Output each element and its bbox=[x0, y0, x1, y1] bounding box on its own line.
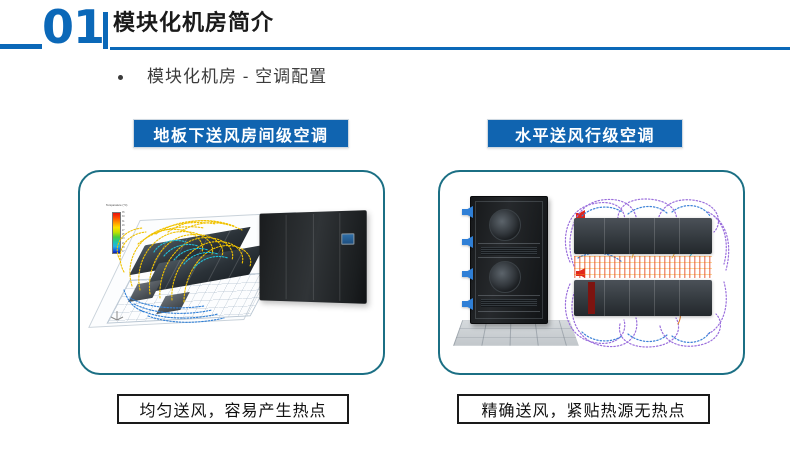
header-dash-accent bbox=[0, 44, 42, 49]
hot-aisle-thermal-plume bbox=[574, 256, 712, 278]
underfloor-cfd-figure: Temperature (°C) 35 33 31 29 27 25 23 21… bbox=[94, 190, 274, 330]
3d-axis-icon bbox=[110, 308, 124, 322]
bullet-item-label: 模块化机房 - 空调配置 bbox=[147, 65, 327, 89]
supply-air-arrow-icon bbox=[462, 206, 473, 218]
rack-row bbox=[574, 280, 712, 316]
legend-title: Temperature (°C) bbox=[106, 204, 128, 207]
bullet-dot-icon bbox=[118, 75, 123, 80]
fan-wheel-icon bbox=[489, 261, 521, 293]
cabinet-body bbox=[470, 196, 548, 324]
temperature-colorbar bbox=[112, 212, 121, 254]
header-underline-rule bbox=[110, 47, 790, 50]
rack-row bbox=[574, 218, 712, 254]
supply-air-arrow-icon bbox=[462, 298, 473, 310]
right-image-panel bbox=[438, 170, 745, 375]
right-section-label: 水平送风行级空调 bbox=[487, 119, 683, 148]
right-caption: 精确送风，紧贴热源无热点 bbox=[457, 394, 710, 424]
section-number: 01 bbox=[42, 4, 104, 50]
page-title: 模块化机房简介 bbox=[113, 8, 274, 38]
inrow-cfd-figure bbox=[558, 192, 734, 352]
supply-air-arrow-icon bbox=[462, 236, 473, 248]
left-image-panel: Temperature (°C) 35 33 31 29 27 25 23 21… bbox=[78, 170, 385, 375]
left-caption: 均匀送风，容易产生热点 bbox=[117, 394, 349, 424]
fan-wheel-icon bbox=[489, 209, 521, 241]
room-level-crac-unit bbox=[255, 212, 367, 302]
left-section-label: 地板下送风房间级空调 bbox=[133, 119, 349, 148]
bullet-item: 模块化机房 - 空调配置 bbox=[118, 63, 518, 91]
slide-header: 01 模块化机房简介 bbox=[0, 0, 800, 58]
hotspot-marker bbox=[588, 282, 595, 314]
supply-air-arrow-icon bbox=[462, 268, 473, 280]
header-vertical-bar bbox=[103, 12, 108, 49]
crac-display-panel bbox=[341, 233, 354, 244]
